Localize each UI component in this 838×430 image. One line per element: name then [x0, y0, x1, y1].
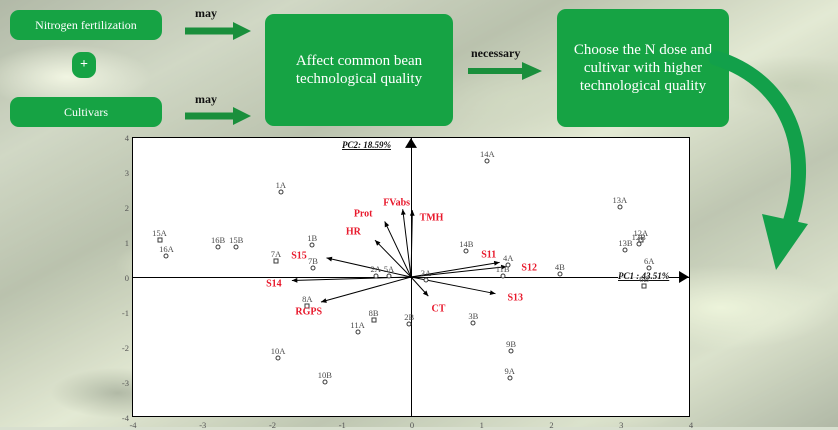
variable-vector-label: TMH: [420, 212, 444, 223]
x-tick-label: -4: [129, 420, 136, 430]
variable-vector-label: S15: [291, 251, 307, 262]
variable-vector-label: RGPS: [295, 307, 322, 318]
y-tick-label: 4: [125, 133, 129, 143]
scatter-point: [557, 271, 562, 276]
flow-box-plus-label: +: [80, 56, 88, 73]
variable-vectors: [133, 138, 689, 416]
scatter-point: [371, 318, 376, 323]
scatter-point-label: 16B: [211, 235, 225, 245]
connector-label-necessary: necessary: [471, 46, 520, 61]
scatter-point-label: 4A: [503, 253, 513, 263]
variable-vector-label: CT: [432, 303, 446, 314]
scatter-point-label: 8B: [369, 308, 379, 318]
scatter-point: [310, 266, 315, 271]
scatter-point: [234, 245, 239, 250]
x-tick-label: -3: [199, 420, 206, 430]
variable-vector-line: [403, 209, 411, 277]
scatter-point-label: 11A: [350, 320, 364, 330]
scatter-point: [485, 159, 490, 164]
scatter-point: [509, 348, 514, 353]
scatter-point: [355, 330, 360, 335]
flow-box-choose-label: Choose the N dose and cultivar with high…: [565, 41, 721, 96]
flow-box-nitrogen-label: Nitrogen fertilization: [35, 18, 137, 33]
scatter-point: [322, 380, 327, 385]
flow-box-affect-label: Affect common bean technological quality: [275, 52, 443, 89]
scatter-point-label: 13B: [618, 238, 632, 248]
variable-vector-label: S14: [266, 279, 282, 290]
scatter-point: [310, 242, 315, 247]
scatter-point-label: 4B: [555, 262, 565, 272]
variable-vector-label: Prot: [354, 209, 373, 220]
y-tick-label: 1: [125, 238, 129, 248]
variable-vector-arrowhead: [410, 210, 415, 215]
x-tick-label: 1: [480, 420, 484, 430]
variable-vector-arrowhead: [327, 257, 333, 262]
scatter-point-label: 5A: [384, 264, 394, 274]
scatter-point-label: 15A: [152, 228, 167, 238]
scatter-point-label: 6B: [639, 274, 649, 284]
scatter-point-label: 7A: [271, 249, 281, 259]
variable-vector-label: FVabs: [383, 198, 410, 209]
scatter-point-label: 12B: [632, 232, 646, 242]
variable-vector-line: [292, 277, 411, 280]
flow-box-affect[interactable]: Affect common bean technological quality: [265, 14, 453, 126]
scatter-point-label: 10A: [271, 346, 286, 356]
variable-vector-line: [411, 210, 412, 277]
scatter-point: [373, 273, 378, 278]
variable-vector-label: S13: [507, 293, 523, 304]
scatter-point-label: 7B: [308, 256, 318, 266]
y-tick-label: -1: [122, 308, 129, 318]
connector-arrow-may-top: [183, 20, 255, 42]
scatter-point-label: 2A: [371, 264, 381, 274]
scatter-point-label: 8A: [302, 294, 312, 304]
y-tick-label: 0: [125, 273, 129, 283]
variable-vector-arrowhead: [292, 278, 298, 283]
scatter-point: [500, 274, 505, 279]
variable-vector-label: S11: [481, 249, 496, 260]
scatter-point: [407, 322, 412, 327]
scatter-point: [276, 355, 281, 360]
scatter-point: [636, 241, 641, 246]
scatter-point-label: 1A: [276, 180, 286, 190]
y-tick-label: 3: [125, 168, 129, 178]
variable-vector-arrowhead: [490, 290, 496, 295]
x-tick-label: 0: [410, 420, 414, 430]
connector-arrow-may-bottom: [183, 105, 255, 127]
scatter-point-label: 16A: [159, 244, 174, 254]
scatter-point-label: 14A: [480, 149, 495, 159]
scatter-point: [471, 320, 476, 325]
scatter-point-label: 14B: [459, 239, 473, 249]
variable-vector-line: [327, 258, 411, 277]
scatter-point: [164, 254, 169, 259]
scatter-point: [642, 283, 647, 288]
flow-box-plus: +: [72, 52, 96, 78]
scatter-point: [273, 258, 278, 263]
flow-box-nitrogen[interactable]: Nitrogen fertilization: [10, 10, 162, 40]
scatter-point: [157, 237, 162, 242]
scatter-point: [647, 266, 652, 271]
scatter-point-label: 10B: [318, 370, 332, 380]
scatter-point: [464, 248, 469, 253]
scatter-point-label: 1B: [307, 233, 317, 243]
scatter-point: [617, 205, 622, 210]
scatter-point-label: 9B: [506, 339, 516, 349]
flow-box-cultivars-label: Cultivars: [64, 105, 108, 120]
scatter-point-label: 15B: [229, 235, 243, 245]
scatter-point: [423, 278, 428, 283]
variable-vector-label: S12: [521, 263, 537, 274]
y-tick-label: -2: [122, 343, 129, 353]
x-tick-label: -1: [339, 420, 346, 430]
connector-arrow-necessary: [466, 60, 548, 82]
scatter-point: [507, 375, 512, 380]
x-tick-label: 3: [619, 420, 623, 430]
scatter-point: [216, 245, 221, 250]
scatter-point: [278, 189, 283, 194]
pca-biplot[interactable]: PC2: 18.59% PC1 : 43.51% 15A16A16B15B1A7…: [132, 137, 690, 417]
scatter-point-label: 9A: [504, 366, 514, 376]
plot-inner-area: PC2: 18.59% PC1 : 43.51% 15A16A16B15B1A7…: [133, 138, 689, 416]
y-tick-label: -3: [122, 378, 129, 388]
scatter-point: [623, 248, 628, 253]
y-tick-label: -4: [122, 413, 129, 423]
x-tick-label: 4: [689, 420, 693, 430]
connector-arrow-curved-return: [700, 48, 830, 298]
scatter-point-label: 2B: [404, 312, 414, 322]
flow-box-cultivars[interactable]: Cultivars: [10, 97, 162, 127]
scatter-point-label: 3B: [468, 311, 478, 321]
x-tick-label: -2: [269, 420, 276, 430]
scatter-point-label: 3A: [421, 268, 431, 278]
variable-vector-line: [321, 277, 411, 302]
connector-label-may-top: may: [195, 6, 217, 21]
variable-vector-label: HR: [346, 226, 361, 237]
y-tick-label: 2: [125, 203, 129, 213]
scatter-point-label: 13A: [613, 195, 628, 205]
x-tick-label: 2: [549, 420, 553, 430]
scatter-point-label: 6A: [644, 256, 654, 266]
variable-vector-arrowhead: [401, 209, 406, 215]
scatter-point: [386, 273, 391, 278]
scatter-point-label: 11B: [496, 264, 510, 274]
